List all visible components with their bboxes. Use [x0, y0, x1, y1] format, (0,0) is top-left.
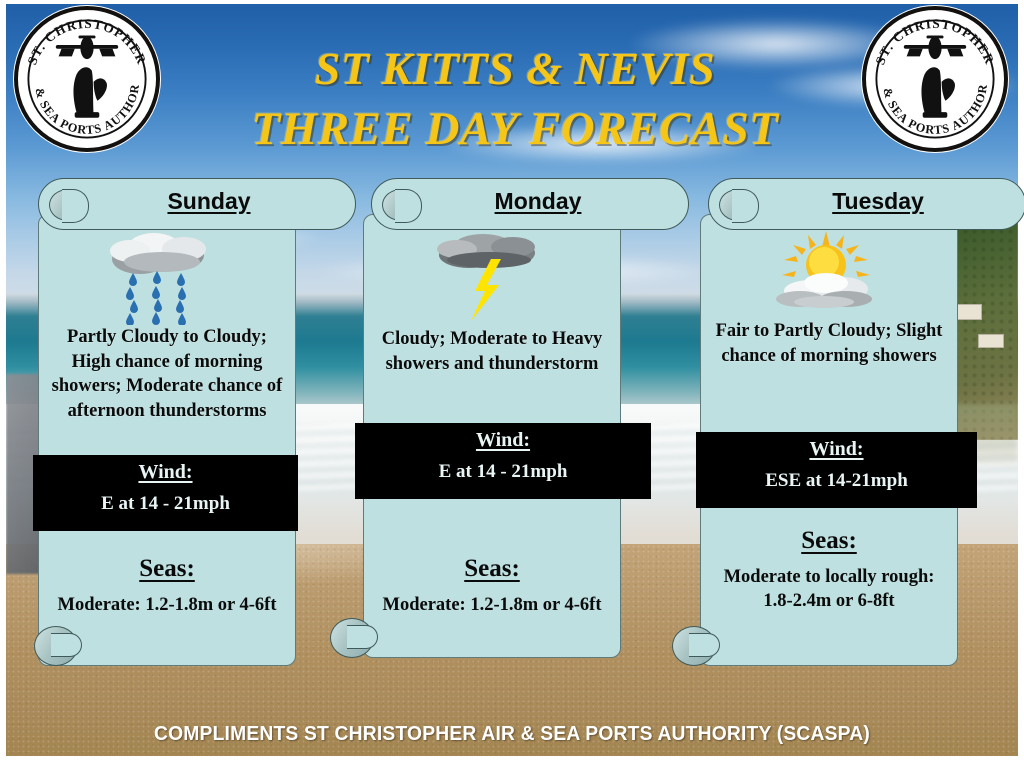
weather-icon-tuesday: [701, 229, 957, 325]
scroll-roll-bottom-monday: [330, 618, 374, 658]
thunderstorm-icon: [417, 229, 567, 325]
day-label-tuesday: Tuesday: [731, 188, 1024, 215]
scaspa-seal-graphic: ST. CHRISTOPHER AIR & SEA PORTS AUTHORIT…: [18, 10, 156, 148]
poster-title: ST KITTS & NEVIS THREE DAY FORECAST: [170, 40, 860, 159]
raindrops: [126, 271, 186, 325]
scroll-roll-bottom-sunday: [34, 626, 78, 666]
forecast-summary-sunday: Partly Cloudy to Cloudy; High chance of …: [49, 325, 285, 423]
wind-block-sunday: Wind: E at 14 - 21mph: [33, 455, 298, 531]
card-header-sunday: Sunday: [38, 178, 356, 230]
forecast-summary-monday: Cloudy; Moderate to Heavy showers and th…: [374, 327, 610, 376]
forecast-summary-tuesday: Fair to Partly Cloudy; Slight chance of …: [711, 319, 947, 368]
scaspa-seal-graphic: ST. CHRISTOPHER AIR & SEA PORTS AUTHORIT…: [866, 10, 1004, 148]
seas-label: Seas:: [370, 555, 614, 583]
cloud-shape: [110, 233, 206, 274]
wind-value-monday: E at 14 - 21mph: [355, 452, 651, 483]
seas-block-monday: Seas: Moderate: 1.2-1.8m or 4-6ft: [370, 555, 614, 617]
scaspa-logo-right: ST. CHRISTOPHER AIR & SEA PORTS AUTHORIT…: [862, 6, 1008, 152]
seas-value-monday: Moderate: 1.2-1.8m or 4-6ft: [370, 593, 614, 617]
forecast-poster: ST. CHRISTOPHER AIR & SEA PORTS AUTHORIT…: [0, 0, 1024, 760]
rain-cloud-icon: [92, 229, 242, 325]
footer-credit: COMPLIMENTS ST CHRISTOPHER AIR & SEA POR…: [31, 722, 994, 746]
forecast-card-sunday: Partly Cloudy to Cloudy; High chance of …: [38, 214, 296, 666]
weather-icon-monday: [364, 229, 620, 325]
wind-value-sunday: E at 14 - 21mph: [33, 484, 298, 515]
seas-value-tuesday: Moderate to locally rough: 1.8-2.4m or 6…: [707, 565, 951, 613]
scaspa-logo-left: ST. CHRISTOPHER AIR & SEA PORTS AUTHORIT…: [14, 6, 160, 152]
card-header-tuesday: Tuesday: [708, 178, 1024, 230]
wind-label: Wind:: [33, 455, 298, 484]
day-label-monday: Monday: [388, 188, 688, 215]
wind-value-tuesday: ESE at 14-21mph: [696, 461, 977, 492]
sun-behind-cloud-icon: [754, 229, 904, 325]
seas-value-sunday: Moderate: 1.2-1.8m or 4-6ft: [45, 593, 289, 617]
seas-label: Seas:: [45, 555, 289, 583]
lightning-bolt-icon: [471, 259, 501, 321]
cloud-shape: [776, 273, 872, 308]
day-label-sunday: Sunday: [63, 188, 355, 215]
wind-block-monday: Wind: E at 14 - 21mph: [355, 423, 651, 499]
title-line-2: THREE DAY FORECAST: [170, 99, 860, 159]
wind-block-tuesday: Wind: ESE at 14-21mph: [696, 432, 977, 508]
title-line-1: ST KITTS & NEVIS: [315, 43, 715, 94]
storm-cloud-shape: [437, 234, 535, 268]
wind-label: Wind:: [696, 432, 977, 461]
weather-icon-sunday: [39, 229, 295, 325]
seas-block-sunday: Seas: Moderate: 1.2-1.8m or 4-6ft: [45, 555, 289, 617]
scroll-roll-bottom-tuesday: [672, 626, 716, 666]
card-header-monday: Monday: [371, 178, 689, 230]
wind-label: Wind:: [355, 423, 651, 452]
seas-block-tuesday: Seas: Moderate to locally rough: 1.8-2.4…: [707, 527, 951, 613]
hillside-house: [978, 334, 1004, 348]
seas-label: Seas:: [707, 527, 951, 555]
